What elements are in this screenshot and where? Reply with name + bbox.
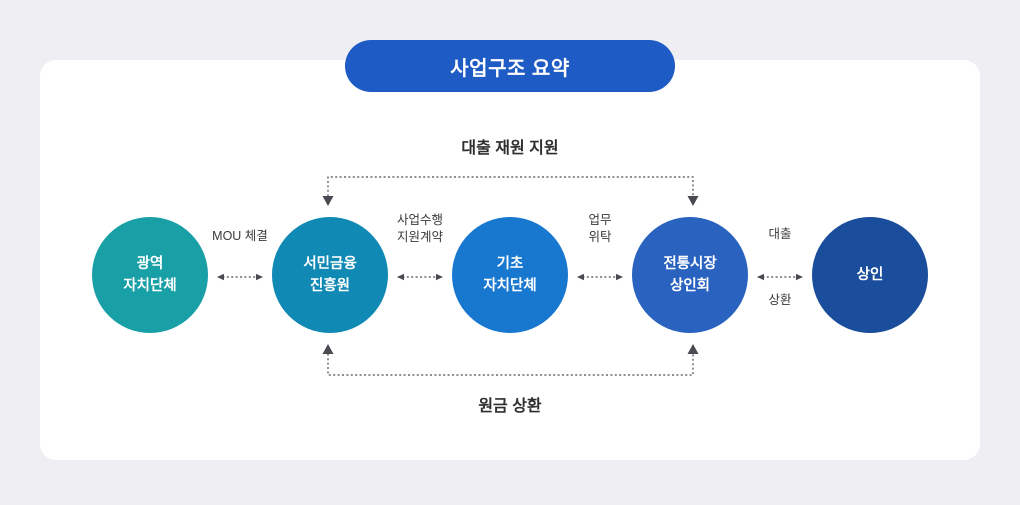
bracket-bottom-repayment — [323, 344, 699, 375]
bracket-top-funding — [323, 177, 699, 206]
page-title: 사업구조 요약 — [450, 52, 569, 81]
screenshot-root: 사업구조 요약 — [0, 0, 1020, 505]
section-title-pill: 사업구조 요약 — [345, 40, 675, 92]
